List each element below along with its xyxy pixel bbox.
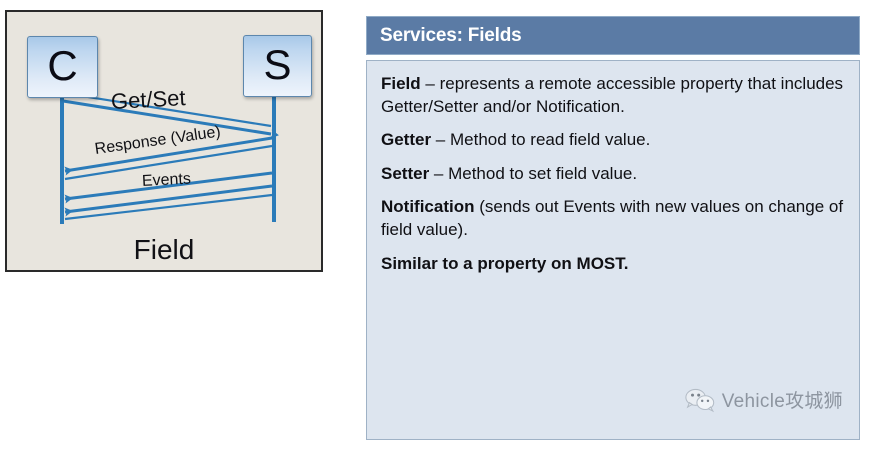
node-client-box: C [27,36,98,98]
definition-field: Field – represents a remote accessible p… [381,73,845,118]
node-server-box: S [243,35,312,97]
services-panel: Services: Fields Field – represents a re… [366,16,860,440]
message-label-events: Events [142,170,192,191]
definition-setter: Setter – Method to set field value. [381,163,845,186]
node-client-label: C [47,45,77,87]
diagram-title: Field [7,234,321,266]
sequence-diagram-panel: C S Get/Set Response (Value) Events Fiel… [5,10,323,272]
definition-getter-term: Getter [381,130,431,149]
node-server-label: S [263,44,291,86]
definition-getter-text: – Method to read field value. [431,130,650,149]
services-panel-header: Services: Fields [366,16,860,55]
watermark: Vehicle攻城狮 [685,386,843,413]
definition-setter-term: Setter [381,164,429,183]
watermark-text: Vehicle攻城狮 [722,386,843,413]
wechat-icon [685,387,715,413]
services-panel-title: Services: Fields [380,25,522,47]
definition-field-text: – represents a remote accessible propert… [381,74,843,116]
definition-setter-text: – Method to set field value. [429,164,637,183]
definition-field-term: Field [381,74,421,93]
definition-notification-term: Notification [381,197,475,216]
message-label-get-set: Get/Set [110,85,186,115]
definition-similar-term: Similar to a property on MOST. [381,254,628,273]
definition-getter: Getter – Method to read field value. [381,129,845,152]
definition-notification: Notification (sends out Events with new … [381,196,845,241]
services-panel-body: Field – represents a remote accessible p… [366,60,860,440]
definition-similar: Similar to a property on MOST. [381,253,845,276]
